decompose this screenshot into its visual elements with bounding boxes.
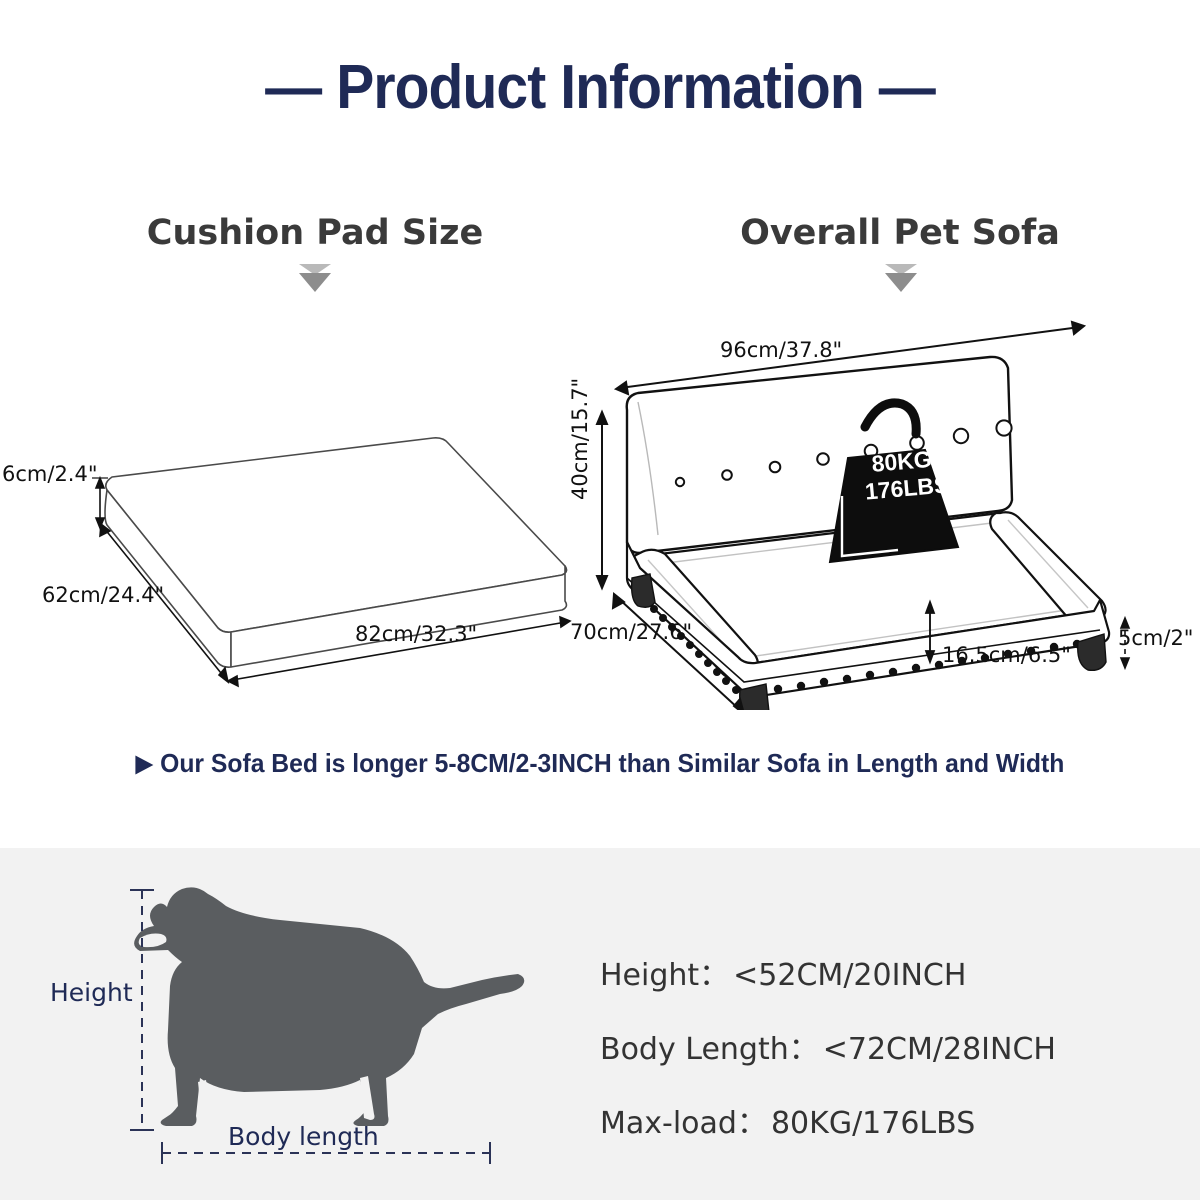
play-triangle-icon: ▶ (136, 750, 153, 777)
spec-row-height: Height：<52CM/20INCH (600, 950, 1160, 994)
sofa-seat-height-label: 16.5cm/6.5" (942, 643, 1071, 667)
spec-value-body-length: <72CM/28INCH (823, 1032, 1056, 1067)
spec-value-height: <52CM/20INCH (733, 958, 966, 993)
page-title: — Product Information — (48, 52, 1152, 123)
dog-silhouette (134, 887, 524, 1126)
dog-height-label: Height (50, 978, 133, 1007)
spec-value-max-load: 80KG/176LBS (771, 1106, 975, 1141)
sofa-foot-rear-left (632, 574, 655, 607)
tufting-button (817, 453, 829, 465)
tufting-button (722, 470, 732, 480)
highlight-banner-text: Our Sofa Bed is longer 5-8CM/2-3INCH tha… (160, 748, 1064, 778)
product-information-infographic: — Product Information — Cushion Pad Size… (0, 0, 1200, 1200)
tufting-button (954, 429, 968, 443)
sofa-foot-height-label: 5cm/2" (1118, 626, 1193, 650)
cushion-pad-diagram: 6cm/2.4" 62cm/24.4" 82cm/32.3" (0, 400, 590, 700)
dog-body-length-label: Body length (228, 1122, 379, 1151)
cushion-thickness-label: 6cm/2.4" (2, 462, 98, 486)
sofa-height-label: 40cm/15.7" (568, 378, 592, 500)
section-heading-overall-pet-sofa: Overall Pet Sofa (640, 213, 1160, 253)
pet-spec-list: Height：<52CM/20INCH Body Length：<72CM/28… (600, 950, 1160, 1172)
spec-label-body-length: Body Length： (600, 1032, 819, 1067)
double-chevron-down-icon (881, 262, 921, 296)
section-heading-cushion-pad-size: Cushion Pad Size (60, 213, 570, 253)
sofa-height-dimension (597, 412, 607, 588)
cushion-length-label: 82cm/32.3" (355, 622, 477, 646)
dog-leg-gap-front (198, 1080, 213, 1122)
tufting-button (996, 420, 1011, 435)
pet-sofa-diagram: 80KG/ 176LBS 96cm/37.8" 40cm/15.7" 70cm/… (580, 310, 1200, 710)
tufting-button (676, 478, 684, 486)
spec-label-height: Height： (600, 958, 729, 993)
dog-height-dimension (130, 890, 154, 1130)
highlight-banner: ▶Our Sofa Bed is longer 5-8CM/2-3INCH th… (30, 748, 1170, 779)
double-chevron-down-icon (295, 262, 335, 296)
spec-row-max-load: Max-load：80KG/176LBS (600, 1098, 1160, 1142)
spec-row-body-length: Body Length：<72CM/28INCH (600, 1024, 1160, 1068)
tufting-button (770, 462, 781, 473)
sofa-width-label: 96cm/37.8" (720, 338, 842, 362)
sofa-depth-label: 70cm/27.6" (570, 620, 692, 644)
cushion-depth-label: 62cm/24.4" (42, 583, 164, 607)
weight-tag-label: 80KG/ 176LBS (844, 443, 968, 508)
spec-label-max-load: Max-load： (600, 1106, 767, 1141)
